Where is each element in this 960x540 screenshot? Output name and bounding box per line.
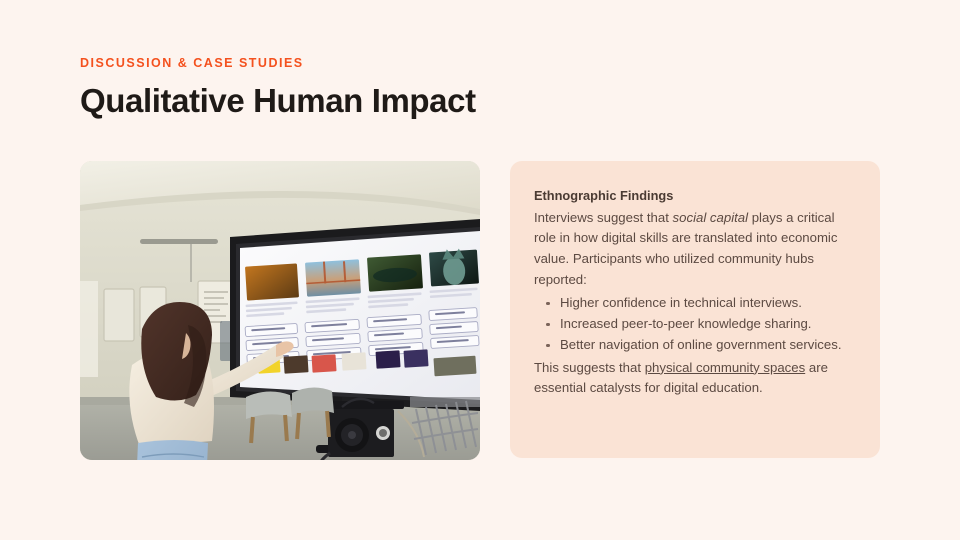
page-title: Qualitative Human Impact <box>80 83 780 120</box>
photo-illustration <box>80 161 480 460</box>
findings-paragraph: Interviews suggest that social capital p… <box>534 208 856 291</box>
paragraph-lead: Interviews suggest that <box>534 210 673 225</box>
findings-heading: Ethnographic Findings <box>534 187 856 206</box>
bullet-text: Higher confidence in technical interview… <box>560 295 802 310</box>
bullet-text: Better navigation of online government s… <box>560 337 842 352</box>
case-study-photo <box>80 161 480 460</box>
conclusion-link[interactable]: physical community spaces <box>645 360 806 375</box>
bullet-text: Increased peer-to-peer knowledge sharing… <box>560 316 811 331</box>
list-item: Better navigation of online government s… <box>534 335 856 356</box>
findings-panel: Ethnographic Findings Interviews suggest… <box>510 161 880 458</box>
findings-conclusion: This suggests that physical community sp… <box>534 358 856 400</box>
slide-root: DISCUSSION & CASE STUDIES Qualitative Hu… <box>0 0 960 540</box>
paragraph-emphasis: social capital <box>673 210 749 225</box>
findings-bullet-list: Higher confidence in technical interview… <box>534 293 856 356</box>
conclusion-lead: This suggests that <box>534 360 645 375</box>
slide-header: DISCUSSION & CASE STUDIES Qualitative Hu… <box>80 56 780 120</box>
list-item: Increased peer-to-peer knowledge sharing… <box>534 314 856 335</box>
section-eyebrow: DISCUSSION & CASE STUDIES <box>80 56 780 71</box>
list-item: Higher confidence in technical interview… <box>534 293 856 314</box>
